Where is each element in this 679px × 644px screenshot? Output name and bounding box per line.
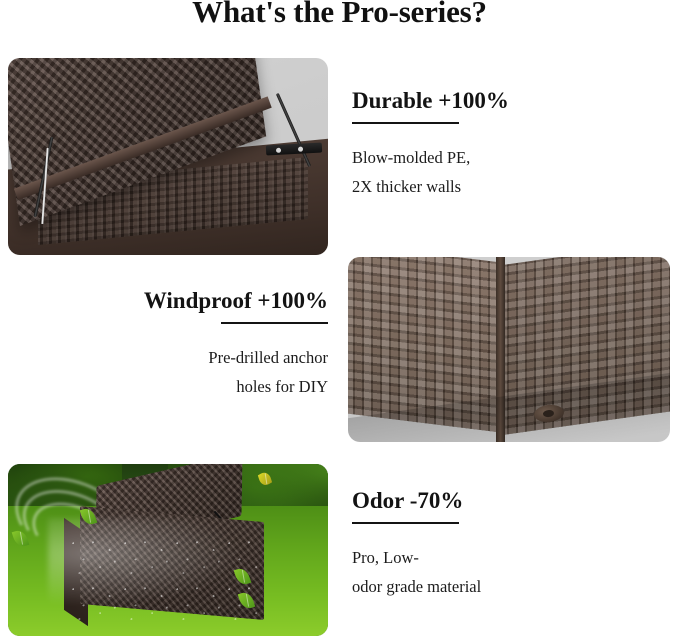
feature-heading-windproof: Windproof +100% [28,288,328,313]
feature-heading-durable: Durable +100% [352,88,652,113]
feature-body-line: 2X thicker walls [352,172,652,201]
heading-rule-odor [352,522,459,524]
garden-airflow-photo [8,464,328,636]
page-title: What's the Pro-series? [0,0,679,30]
feature-block-odor: Odor -70% Pro, Low- odor grade material [352,488,652,601]
feature-heading-odor: Odor -70% [352,488,652,513]
photo-背景 [8,58,328,255]
feature-body-durable: Blow-molded PE, 2X thicker walls [352,143,652,201]
open-deck-box-lid-photo [8,58,328,255]
feature-body-odor: Pro, Low- odor grade material [352,543,652,601]
photo-background [348,257,670,442]
heading-rule-windproof [221,322,328,324]
feature-block-windproof: Windproof +100% Pre-drilled anchor holes… [28,288,328,401]
feature-body-line: Blow-molded PE, [352,143,652,172]
feature-body-line: Pre-drilled anchor [28,343,328,372]
photo-background [8,464,328,636]
wicker-corner-anchor-hole-photo [348,257,670,442]
feature-block-durable: Durable +100% Blow-molded PE, 2X thicker… [352,88,652,201]
feature-body-windproof: Pre-drilled anchor holes for DIY [28,343,328,401]
heading-rule-durable [352,122,459,124]
feature-body-line: holes for DIY [28,372,328,401]
feature-body-line: odor grade material [352,572,652,601]
odor-particles [68,534,258,624]
feature-body-line: Pro, Low- [352,543,652,572]
